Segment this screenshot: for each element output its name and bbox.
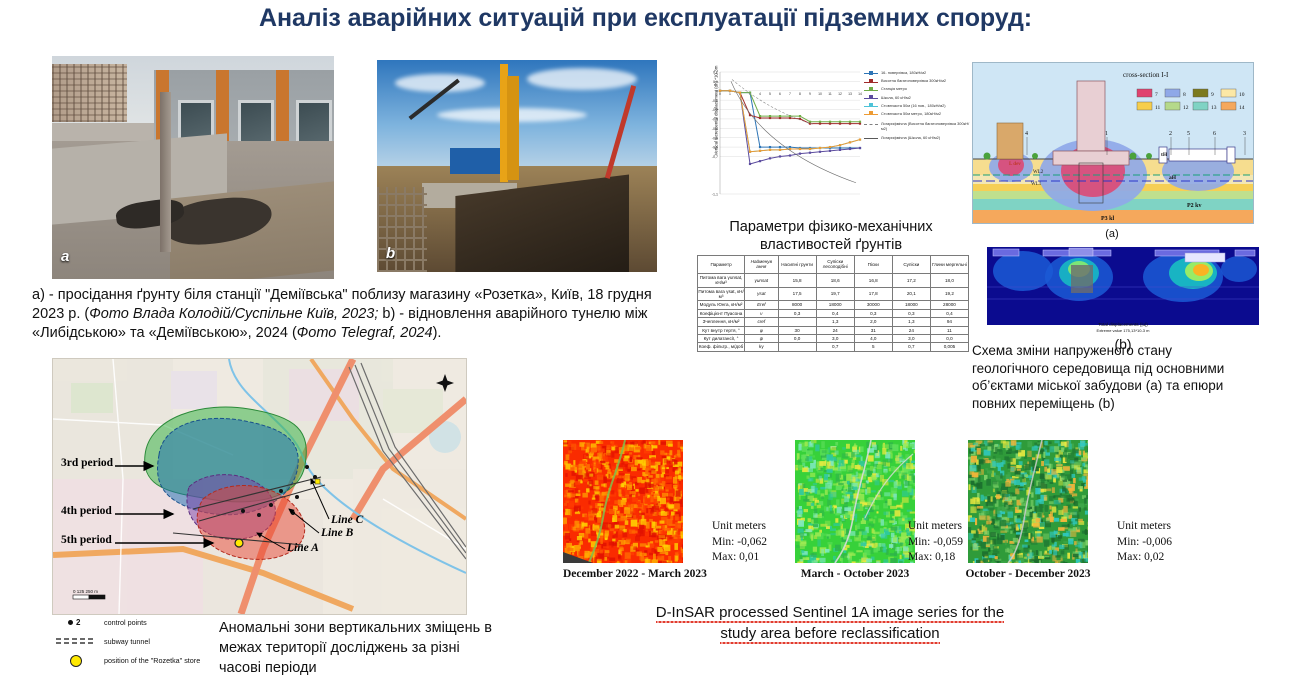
soil-table-header-cell: Супіски лесоподібні bbox=[816, 256, 854, 274]
table-row: Коефіцієнт Пуасонаν0,30,40,30,30,4 bbox=[698, 309, 969, 317]
chart-legend-swatch bbox=[864, 105, 878, 109]
soil-param-value: 18,6 bbox=[816, 273, 854, 287]
soil-table-title-line2: властивостей ґрунтів bbox=[700, 236, 962, 254]
insar-3-unit: Unit meters bbox=[1117, 519, 1172, 535]
svg-text:WL1: WL1 bbox=[1031, 182, 1042, 187]
soil-param-value: 0,7 bbox=[892, 343, 930, 351]
insar-3-unit-block: Unit meters Min: -0,006 Max: 0,02 bbox=[1117, 519, 1172, 566]
scheme-caption-line2: геологічного середовища під основними bbox=[972, 360, 1272, 378]
chart-legend-item: 16- поверхівка, 180кН/м2 bbox=[864, 70, 972, 76]
chart-legend-label: Логарифмічна (Школа, 60 кН/м2) bbox=[881, 135, 940, 140]
soil-param-name: Кут внутр тертя, ° bbox=[698, 326, 745, 334]
soil-param-value: 0,3 bbox=[778, 309, 816, 317]
chart-legend-swatch bbox=[864, 124, 878, 125]
insar-image-oct-dec2023 bbox=[968, 440, 1088, 563]
yellow-circle-icon bbox=[56, 655, 96, 667]
fem-subtitle: Extreme value 175,13*10-3 m bbox=[987, 328, 1259, 334]
cross-section-legend-label: 7 bbox=[1155, 92, 1158, 98]
soil-param-value: 18000 bbox=[816, 301, 854, 309]
insar-2-svg bbox=[795, 440, 915, 563]
chart-legend-swatch bbox=[864, 88, 878, 92]
svg-text:1: 1 bbox=[729, 92, 731, 96]
svg-text:0: 0 bbox=[719, 92, 721, 96]
svg-text:tH: tH bbox=[1161, 152, 1168, 158]
svg-text:L dev: L dev bbox=[1009, 162, 1021, 167]
chart-legend-item: Висотна багатоповерхівка 300кН/м2 bbox=[864, 78, 972, 84]
soil-param-value bbox=[778, 343, 816, 351]
chart-legend-label: Станція метро bbox=[881, 86, 907, 91]
cross-section-legend-swatch bbox=[1165, 102, 1180, 110]
cross-section-legend-label: 10 bbox=[1239, 92, 1245, 98]
svg-text:-0,5: -0,5 bbox=[712, 136, 718, 140]
chart-legend-item: Станція метро bbox=[864, 86, 972, 92]
soil-param-value: 94 bbox=[930, 318, 968, 326]
insar-caption-line2: study area before reclassification bbox=[720, 625, 939, 644]
cross-section-panel-label: (a) bbox=[972, 228, 1252, 240]
svg-text:-0,1: -0,1 bbox=[712, 99, 718, 103]
soil-param-value: 0,3 bbox=[892, 309, 930, 317]
slide-canvas: Аналіз аварійних ситуацій при експлуатац… bbox=[0, 0, 1291, 678]
cross-section-callout: 2 bbox=[1169, 131, 1172, 137]
cross-section-legend-label: 9 bbox=[1211, 92, 1214, 98]
soil-param-value: 8000 bbox=[778, 301, 816, 309]
chart-legend: 16- поверхівка, 180кН/м2Висотна багатопо… bbox=[864, 70, 972, 142]
photo-b-rebar-cage bbox=[377, 187, 427, 272]
scheme-caption-line1: Схема зміни напруженого стану bbox=[972, 342, 1272, 360]
map-legend-control-point-number: 2 bbox=[76, 618, 80, 627]
deformation-zones-map: 0 125 250 m 3rd period 4th period 5th pe… bbox=[52, 358, 467, 615]
scheme-caption: Схема зміни напруженого стану геологічно… bbox=[972, 342, 1272, 412]
insar-3-svg bbox=[968, 440, 1088, 563]
svg-text:aH: aH bbox=[1169, 175, 1177, 181]
soil-param-value: 3,0 bbox=[892, 335, 930, 343]
chart-trendline-solid bbox=[731, 81, 856, 182]
soil-param-value: 3,0 bbox=[816, 335, 854, 343]
map-caption-line2: межах території досліджень за різні bbox=[219, 638, 539, 658]
svg-text:9: 9 bbox=[809, 92, 811, 96]
svg-text:11: 11 bbox=[828, 92, 832, 96]
soil-param-symbol: kγ bbox=[745, 343, 779, 351]
table-row: Кут внутр тертя, °φ3024312411 bbox=[698, 326, 969, 334]
soil-table-header-cell: Найменув ання bbox=[745, 256, 779, 274]
insar-2-unit: Unit meters bbox=[908, 519, 963, 535]
chart-legend-swatch bbox=[864, 80, 878, 84]
svg-text:-0,2: -0,2 bbox=[712, 108, 718, 112]
chart-legend-label: Школа, 60 кН/м2 bbox=[881, 95, 911, 100]
svg-text:12: 12 bbox=[838, 92, 842, 96]
table-row: Зчеплення, кН/м²cref1,32,01,394 bbox=[698, 318, 969, 326]
svg-text:13: 13 bbox=[848, 92, 852, 96]
soil-param-value: 1,3 bbox=[816, 318, 854, 326]
map-legend-subway-tunnel-text: subway tunnel bbox=[104, 637, 150, 646]
soil-table-header-row: ПараметрНайменув анняНасипні грунтиСупіс… bbox=[698, 256, 969, 274]
soil-param-value: 1,3 bbox=[892, 318, 930, 326]
fem-svg bbox=[987, 247, 1259, 325]
map-annotation-line-c: Line C bbox=[331, 514, 363, 526]
insar-1-min: Min: -0,062 bbox=[712, 535, 767, 551]
soil-param-value bbox=[778, 318, 816, 326]
control-point-icon: 2 bbox=[56, 618, 96, 627]
svg-text:0: 0 bbox=[716, 89, 718, 93]
svg-text:0,1: 0,1 bbox=[713, 80, 718, 84]
svg-text:6: 6 bbox=[779, 92, 781, 96]
dashed-line-icon bbox=[56, 636, 96, 648]
soil-param-name: Питома вага γsat, кН/м³ bbox=[698, 287, 745, 301]
soil-param-value: 11 bbox=[930, 326, 968, 334]
soil-param-symbol: γsat bbox=[745, 287, 779, 301]
photo-a-background-building bbox=[52, 64, 127, 122]
soil-param-symbol: γunsat bbox=[745, 273, 779, 287]
cross-section-legend-label: 11 bbox=[1155, 105, 1161, 111]
chart-legend-item: Стовпчаста 50м (16 пов., 180кН/м2) bbox=[864, 103, 972, 109]
photo-tunnel-construction: b bbox=[377, 60, 657, 272]
soil-table-header-cell: Піски bbox=[854, 256, 892, 274]
settlement-line-chart: Vertical incremental displacement (dh) *… bbox=[692, 56, 974, 216]
soil-param-value: 4,0 bbox=[854, 335, 892, 343]
cross-section-legend-label: 12 bbox=[1183, 105, 1189, 111]
soil-param-value: 17,5 bbox=[778, 287, 816, 301]
map-legend-control-points-text: control points bbox=[104, 618, 147, 627]
insar-2-unit-block: Unit meters Min: -0,059 Max: 0,18 bbox=[908, 519, 963, 566]
cross-section-legend-swatch bbox=[1193, 89, 1208, 97]
soil-param-name: Зчеплення, кН/м² bbox=[698, 318, 745, 326]
soil-table-body: Питома вага γunsat, кН/м³γunsat15,818,61… bbox=[698, 273, 969, 351]
chart-legend-swatch bbox=[864, 97, 878, 101]
cross-section-callout: 3 bbox=[1243, 131, 1246, 137]
soil-param-symbol: φ bbox=[745, 326, 779, 334]
soil-param-value: 30000 bbox=[854, 301, 892, 309]
photo-caption: a) - просідання ґрунту біля станції "Дем… bbox=[32, 286, 660, 343]
photo-b-label: b bbox=[386, 245, 395, 262]
soil-param-name: Питома вага γunsat, кН/м³ bbox=[698, 273, 745, 287]
insar-1-unit: Unit meters bbox=[712, 519, 767, 535]
soil-table-header-cell: Параметр bbox=[698, 256, 745, 274]
soil-param-value: 5 bbox=[854, 343, 892, 351]
soil-param-value: 20,1 bbox=[892, 287, 930, 301]
svg-text:P3 kl: P3 kl bbox=[1101, 216, 1115, 222]
svg-text:14: 14 bbox=[858, 92, 862, 96]
svg-text:8: 8 bbox=[799, 92, 801, 96]
soil-param-symbol: ν bbox=[745, 309, 779, 317]
map-legend-row-subway-tunnel: subway tunnel bbox=[56, 635, 221, 648]
soil-table-header-cell: Насипні грунти bbox=[778, 256, 816, 274]
soil-table-title: Параметри фізико-механічних властивостей… bbox=[700, 218, 962, 254]
chart-legend-item: Стовпчаста 50м метро, 180кН/м2 bbox=[864, 111, 972, 117]
soil-param-value: 17,2 bbox=[892, 273, 930, 287]
table-row: Питома вага γsat, кН/м³γsat17,519,717,82… bbox=[698, 287, 969, 301]
cross-section-legend-label: 14 bbox=[1239, 105, 1245, 111]
soil-param-value: 30 bbox=[778, 326, 816, 334]
table-row: Кут дилатансії, °ψ0,03,04,03,00,0 bbox=[698, 335, 969, 343]
map-legend-rozetka-text: position of the "Rozetka" store bbox=[104, 656, 200, 665]
photo-b-truck bbox=[450, 148, 502, 174]
chart-legend-label: Логарифмічна (Висотна багатоповерхівка 3… bbox=[881, 121, 972, 131]
insar-2-min: Min: -0,059 bbox=[908, 535, 963, 551]
insar-caption: D-InSAR processed Sentinel 1A image seri… bbox=[628, 602, 1032, 644]
table-row: Коеф. фільтр., м/добkγ0,750,70,005 bbox=[698, 343, 969, 351]
soil-param-value: 0,005 bbox=[930, 343, 968, 351]
cross-section-legend-label: 13 bbox=[1211, 105, 1217, 111]
insar-3-max: Max: 0,02 bbox=[1117, 550, 1172, 566]
soil-param-value: 19,7 bbox=[816, 287, 854, 301]
table-row: Питома вага γunsat, кН/м³γunsat15,818,61… bbox=[698, 273, 969, 287]
soil-param-value: 24 bbox=[816, 326, 854, 334]
scheme-caption-line4: повних переміщень (b) bbox=[972, 395, 1272, 413]
chart-legend-swatch bbox=[864, 138, 878, 139]
soil-param-symbol: ψ bbox=[745, 335, 779, 343]
chart-legend-label: Стовпчаста 50м (16 пов., 180кН/м2) bbox=[881, 103, 946, 108]
soil-parameters-table: ПараметрНайменув анняНасипні грунтиСупіс… bbox=[697, 255, 969, 352]
cross-section-legend-swatch bbox=[1165, 89, 1180, 97]
cross-section-legend-swatch bbox=[1221, 102, 1236, 110]
chart-legend-label: Висотна багатоповерхівка 300кН/м2 bbox=[881, 78, 946, 83]
cross-section-callout: 5 bbox=[1187, 131, 1190, 137]
map-annotation-line-b: Line B bbox=[321, 527, 353, 539]
chart-legend-swatch bbox=[864, 113, 878, 117]
insar-1-max: Max: 0,01 bbox=[712, 550, 767, 566]
map-svg: 0 125 250 m bbox=[53, 359, 466, 614]
soil-param-value: 0,7 bbox=[816, 343, 854, 351]
photo-b-drilling-rig-body bbox=[507, 76, 519, 180]
cross-section-callout: 4 bbox=[1025, 131, 1028, 137]
svg-text:4: 4 bbox=[759, 92, 761, 96]
cross-section-svg: cross-section I-I WL2 WL1 tH aH L dev P2… bbox=[973, 63, 1253, 223]
soil-param-value: 28000 bbox=[930, 301, 968, 309]
chart-legend-label: Стовпчаста 50м метро, 180кН/м2 bbox=[881, 111, 941, 116]
soil-param-value: 2,0 bbox=[854, 318, 892, 326]
soil-table-header-cell: Супіски bbox=[892, 256, 930, 274]
photo-b-cloud bbox=[395, 74, 485, 92]
svg-text:7: 7 bbox=[789, 92, 791, 96]
page-title: Аналіз аварійних ситуацій при експлуатац… bbox=[0, 4, 1291, 33]
map-legend-row-control-points: 2 control points bbox=[56, 616, 221, 629]
soil-table-head: ПараметрНайменув анняНасипні грунтиСупіс… bbox=[698, 256, 969, 274]
cross-section-legend-swatch bbox=[1137, 89, 1152, 97]
photo-subsidence-demiivska: a bbox=[52, 56, 334, 279]
svg-text:-0,4: -0,4 bbox=[712, 127, 718, 131]
soil-param-value: 0,0 bbox=[930, 335, 968, 343]
svg-text:-0,6: -0,6 bbox=[712, 146, 718, 150]
map-legend: 2 control points subway tunnel position … bbox=[56, 616, 221, 673]
fem-displacement-plot bbox=[987, 247, 1259, 325]
map-annotation-3rd-period: 3rd period bbox=[61, 457, 113, 469]
soil-param-value: 17,8 bbox=[854, 287, 892, 301]
geological-cross-section-diagram: cross-section I-I WL2 WL1 tH aH L dev P2… bbox=[972, 62, 1254, 224]
scheme-caption-line3: об’єктами міської забудови (а) та епюри bbox=[972, 377, 1272, 395]
cross-section-legend-label: 8 bbox=[1183, 92, 1186, 98]
insar-image-dec2022-mar2023 bbox=[563, 440, 683, 563]
chart-legend-label: 16- поверхівка, 180кН/м2 bbox=[881, 70, 926, 75]
insar-caption-line1: D-InSAR processed Sentinel 1A image seri… bbox=[656, 604, 1005, 623]
photo-a-label: a bbox=[61, 248, 69, 265]
insar-2-max: Max: 0,18 bbox=[908, 550, 963, 566]
soil-param-symbol: Eref bbox=[745, 301, 779, 309]
insar-1-svg bbox=[563, 440, 683, 563]
soil-table-header-cell: Глини мергельні bbox=[930, 256, 968, 274]
table-row: Модуль Юнга, кН/м²Eref800018000300001800… bbox=[698, 301, 969, 309]
insar-1-unit-block: Unit meters Min: -0,062 Max: 0,01 bbox=[712, 519, 767, 566]
soil-param-value: 24 bbox=[892, 326, 930, 334]
soil-param-value: 0,3 bbox=[854, 309, 892, 317]
chart-legend-item-trendline: Логарифмічна (Школа, 60 кН/м2) bbox=[864, 135, 972, 140]
svg-text:10: 10 bbox=[818, 92, 822, 96]
soil-param-name: Коеф. фільтр., м/доб bbox=[698, 343, 745, 351]
svg-text:P2 kv: P2 kv bbox=[1187, 203, 1202, 209]
chart-legend-item-trendline: Логарифмічна (Висотна багатоповерхівка 3… bbox=[864, 121, 972, 131]
svg-text:-0,3: -0,3 bbox=[712, 118, 718, 122]
photo-caption-line3-italic: Фото Telegraf, 2024 bbox=[297, 325, 433, 341]
insar-3-min: Min: -0,006 bbox=[1117, 535, 1172, 551]
soil-param-value: 0,4 bbox=[930, 309, 968, 317]
insar-1-caption: December 2022 - March 2023 bbox=[563, 568, 683, 580]
cross-section-legend-swatch bbox=[1137, 102, 1152, 110]
chart-series-line bbox=[720, 91, 860, 164]
cross-section-legend-swatch bbox=[1221, 89, 1236, 97]
map-legend-row-rozetka-store: position of the "Rozetka" store bbox=[56, 654, 221, 667]
svg-text:0 125 250 m: 0 125 250 m bbox=[73, 589, 98, 594]
insar-2-caption: March - October 2023 bbox=[795, 568, 915, 580]
soil-table-title-line1: Параметри фізико-механічних bbox=[700, 218, 962, 236]
svg-text:5: 5 bbox=[769, 92, 771, 96]
svg-text:cross-section I-I: cross-section I-I bbox=[1123, 71, 1169, 79]
svg-text:WL2: WL2 bbox=[1033, 170, 1044, 175]
soil-param-name: Кут дилатансії, ° bbox=[698, 335, 745, 343]
svg-text:0,2: 0,2 bbox=[713, 71, 718, 75]
soil-param-value: 15,8 bbox=[778, 273, 816, 287]
soil-param-name: Коефіцієнт Пуасона bbox=[698, 309, 745, 317]
map-annotation-line-a: Line A bbox=[287, 542, 319, 554]
cross-section-callout: 6 bbox=[1213, 131, 1216, 137]
map-annotation-5th-period: 5th period bbox=[61, 534, 112, 546]
cross-section-legend-swatch bbox=[1193, 102, 1208, 110]
soil-param-value: 0,4 bbox=[816, 309, 854, 317]
soil-param-value: 18000 bbox=[892, 301, 930, 309]
chart-legend-swatch bbox=[864, 72, 878, 76]
svg-text:-0,7: -0,7 bbox=[712, 155, 718, 159]
photo-caption-line2-italic: Фото Влада Колодій/Суспільне Київ, 2023; bbox=[89, 306, 378, 322]
insar-3-caption: October - December 2023 bbox=[958, 568, 1098, 580]
soil-param-value: 18,0 bbox=[930, 273, 968, 287]
soil-param-value: 19,2 bbox=[930, 287, 968, 301]
photo-caption-line1: a) - просідання ґрунту біля станції "Дем… bbox=[32, 287, 603, 303]
soil-param-value: 31 bbox=[854, 326, 892, 334]
photo-a-utility-pole bbox=[160, 92, 171, 252]
svg-text:-1,1: -1,1 bbox=[712, 193, 718, 197]
map-caption-line3: часові періоди bbox=[219, 658, 539, 678]
chart-legend-item: Школа, 60 кН/м2 bbox=[864, 95, 972, 101]
photo-b-cloud bbox=[527, 68, 637, 90]
map-annotation-4th-period: 4th period bbox=[61, 505, 112, 517]
soil-param-value: 0,0 bbox=[778, 335, 816, 343]
map-caption-line1: Аномальні зони вертикальних зміщень в bbox=[219, 618, 539, 638]
map-caption: Аномальні зони вертикальних зміщень в ме… bbox=[219, 618, 539, 678]
photo-caption-line2-post: b) - відновлення аварійного bbox=[378, 306, 567, 322]
insar-image-mar-oct2023 bbox=[795, 440, 915, 563]
soil-param-value: 16,8 bbox=[854, 273, 892, 287]
soil-param-symbol: cref bbox=[745, 318, 779, 326]
cross-section-callout: 1 bbox=[1105, 131, 1108, 137]
soil-param-name: Модуль Юнга, кН/м² bbox=[698, 301, 745, 309]
photo-caption-line3-post: ). bbox=[433, 325, 442, 341]
